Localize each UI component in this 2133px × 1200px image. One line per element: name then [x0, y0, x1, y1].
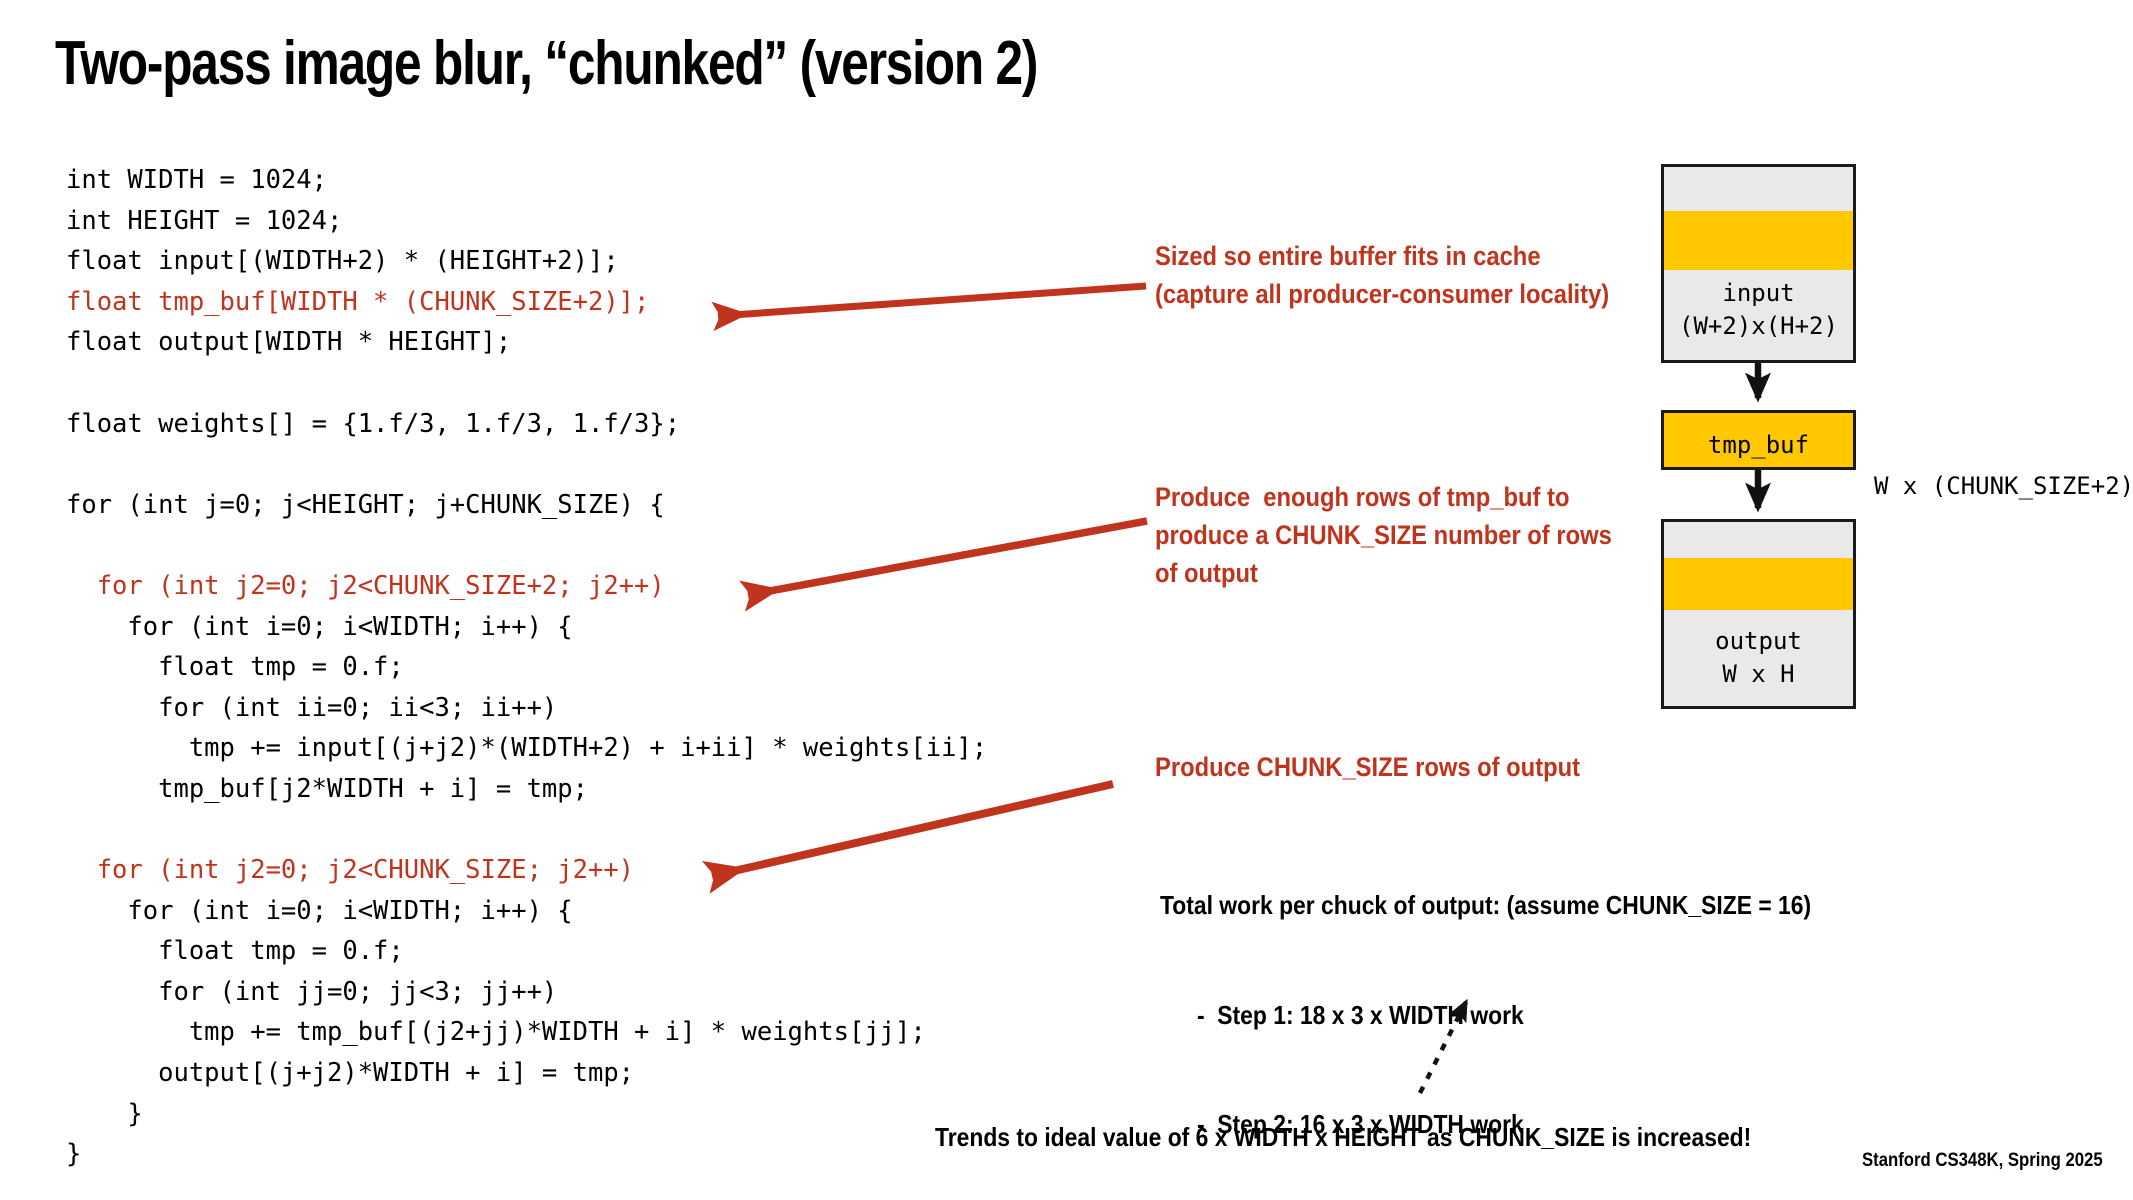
dotted-arrow-to-result — [1420, 1002, 1466, 1093]
slide-canvas: Two-pass image blur, “chunked” (version … — [0, 0, 2133, 1200]
callout-arrow-to-second-j2-loop — [712, 784, 1113, 876]
arrow-overlay — [0, 0, 2133, 1200]
callout-arrow-to-tmp-buf-decl — [718, 286, 1146, 316]
callout-arrow-to-first-j2-loop — [748, 521, 1147, 595]
